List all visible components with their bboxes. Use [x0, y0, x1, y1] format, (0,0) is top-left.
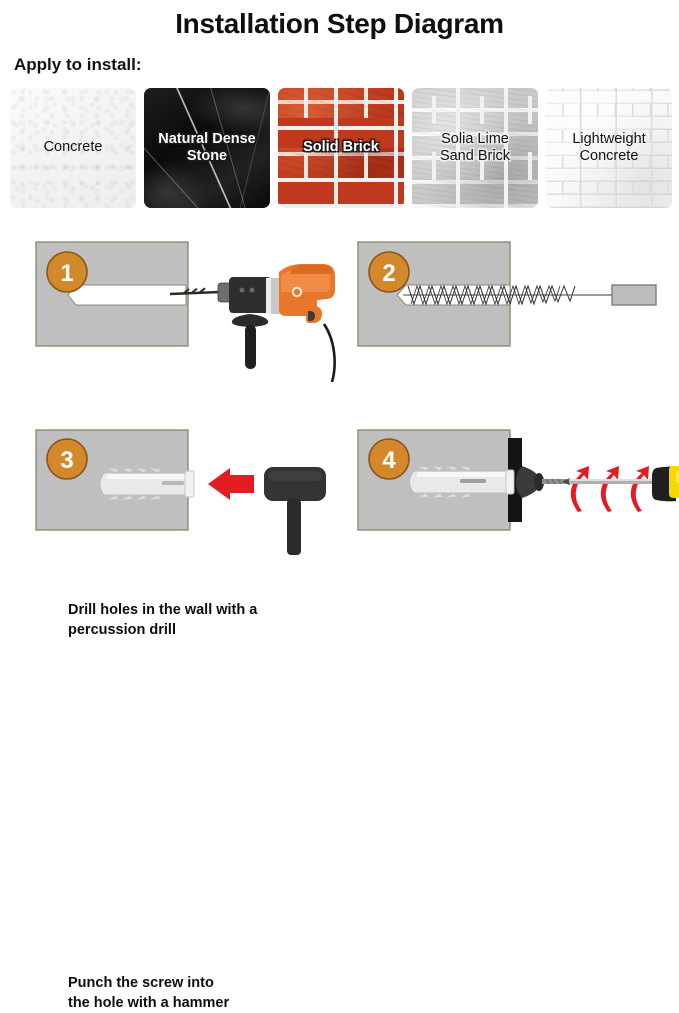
- material-swatch-solia-lime-sand-brick: Solia Lime Sand Brick: [412, 88, 538, 208]
- step-badge: 2: [369, 252, 409, 292]
- step-badge: 3: [47, 439, 87, 479]
- material-swatch-natural-dense-stone: Natural Dense Stone: [144, 88, 270, 208]
- page-title: Installation Step Diagram: [0, 0, 679, 48]
- wall-anchor-icon: [410, 466, 569, 498]
- percussion-drill-icon: [170, 264, 335, 382]
- step-3: 3: [34, 426, 354, 590]
- material-label: Solia Lime Sand Brick: [436, 131, 514, 165]
- step-number: 1: [60, 260, 73, 287]
- step-1-illustration: 1: [34, 236, 354, 376]
- drill-hole: [68, 285, 186, 305]
- material-label: Lightweight Concrete: [568, 131, 649, 165]
- material-swatch-solid-brick: Solid Brick: [278, 88, 404, 208]
- step-3-caption: Punch the screw into the hole with a ham…: [68, 974, 368, 1013]
- step-4: 4: [356, 426, 676, 590]
- material-swatch-concrete: Concrete: [10, 88, 136, 208]
- push-direction-arrow-icon: [208, 468, 254, 500]
- step-3-illustration: 3: [34, 426, 354, 556]
- material-swatch-row: Concrete Natural Dense Stone Solid Brick…: [10, 88, 672, 208]
- step-badge: 4: [369, 439, 409, 479]
- steps-container: 1: [0, 236, 679, 590]
- step-number: 3: [60, 447, 73, 474]
- step-number: 2: [382, 260, 395, 287]
- step-2: 2 Use brush to cleanthe dirt in the hole: [356, 236, 676, 411]
- wall-anchor-icon: [100, 468, 194, 500]
- step-1-caption: Drill holes in the wall with a percussio…: [68, 601, 368, 640]
- rotation-arrows-icon: [571, 466, 649, 512]
- brush-handle: [612, 285, 656, 305]
- step-2-illustration: 2: [356, 236, 676, 376]
- material-swatch-lightweight-concrete: Lightweight Concrete: [546, 88, 672, 208]
- material-label: Natural Dense Stone: [154, 131, 260, 165]
- hammer-icon: [264, 467, 326, 555]
- step-badge: 1: [47, 252, 87, 292]
- material-label: Concrete: [40, 139, 107, 156]
- step-number: 4: [382, 447, 396, 474]
- page-subtitle: Apply to install:: [14, 55, 142, 75]
- step-4-illustration: 4: [356, 426, 676, 556]
- material-label: Solid Brick: [299, 139, 383, 156]
- step-1: 1: [34, 236, 354, 411]
